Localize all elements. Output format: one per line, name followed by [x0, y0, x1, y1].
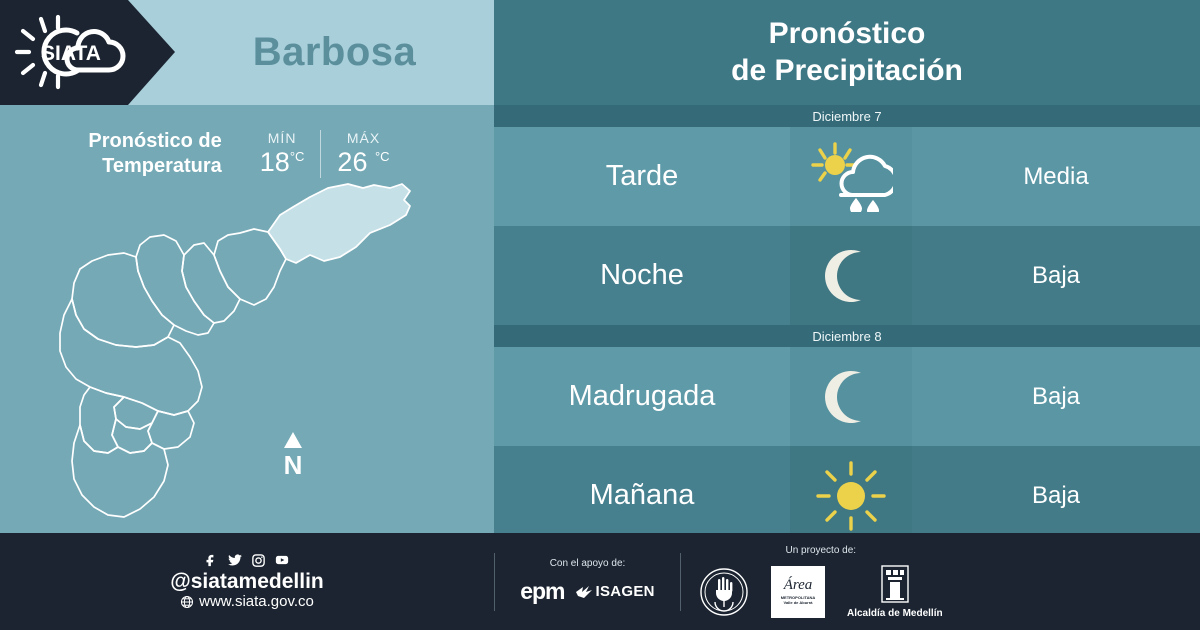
- precipitation-panel: Pronóstico de Precipitación Diciembre 7 …: [494, 0, 1200, 533]
- forecast-row: Noche Baja: [494, 226, 1200, 325]
- globe-icon: [180, 595, 194, 609]
- weather-forecast-poster: SIATA Barbosa Pronóstico de Temperatura …: [0, 0, 1200, 630]
- map-region-barbosa: [268, 184, 410, 263]
- page-title: Barbosa: [175, 0, 494, 105]
- project-block: Un proyecto de: Área: [681, 545, 961, 619]
- left-panel: SIATA Barbosa Pronóstico de Temperatura …: [0, 0, 494, 533]
- temperature-min-value: 18°C: [260, 147, 305, 178]
- compass-label: N: [284, 450, 303, 478]
- social-block: @siatamedellin www.siata.gov.co: [0, 553, 494, 610]
- temperature-max-value: 26 °C: [337, 147, 389, 178]
- epm-logo: epm: [520, 578, 564, 605]
- map-region-caldas: [72, 425, 168, 517]
- forecast-probability: Media: [912, 127, 1200, 226]
- weather-icon-cell: [790, 127, 912, 226]
- temperature-max-label: MÁX: [337, 130, 389, 146]
- date-header: Diciembre 7: [494, 105, 1200, 127]
- sun-icon: [815, 460, 887, 532]
- footer: @siatamedellin www.siata.gov.co Con el a…: [0, 533, 1200, 630]
- compass-north-icon: N: [278, 430, 308, 478]
- forecast-period: Mañana: [494, 446, 790, 545]
- alcaldia-crest-icon: [879, 565, 911, 605]
- temperature-max: MÁX 26 °C: [321, 130, 405, 178]
- precipitation-title: Pronóstico de Precipitación: [494, 0, 1200, 105]
- alcaldia-medellin-logo: Alcaldía de Medellín: [847, 565, 943, 619]
- forecast-probability: Baja: [912, 226, 1200, 325]
- project-logos: Área METROPOLITANA Valle de Aburrá Alcal…: [699, 565, 943, 619]
- temperature-title: Pronóstico de Temperatura: [88, 129, 221, 179]
- project-label: Un proyecto de:: [785, 545, 856, 556]
- forecast-period: Tarde: [494, 127, 790, 226]
- social-icons: [204, 553, 291, 568]
- area-logo-text: Área: [784, 578, 813, 593]
- twitter-icon[interactable]: [226, 553, 244, 568]
- map-region-medellin: [60, 299, 202, 415]
- website-url: www.siata.gov.co: [199, 593, 314, 610]
- isagen-mark-icon: [576, 585, 592, 599]
- forecast-probability: Baja: [912, 347, 1200, 446]
- map-region-bello: [136, 235, 214, 335]
- isagen-logo: ISAGEN: [576, 583, 654, 600]
- forecast-period: Madrugada: [494, 347, 790, 446]
- area-logo-subtext: METROPOLITANA Valle de Aburrá: [781, 595, 816, 605]
- area-metropolitana-logo: Área METROPOLITANA Valle de Aburrá: [771, 566, 825, 618]
- instagram-icon[interactable]: [251, 553, 266, 568]
- weather-icon-cell: [790, 226, 912, 325]
- forecast-probability: Baja: [912, 446, 1200, 545]
- siata-logo-pennant: SIATA: [0, 0, 175, 105]
- precipitation-title-line2: de Precipitación: [731, 53, 963, 90]
- temperature-min: MÍN 18°C: [244, 130, 322, 178]
- aburra-valley-map: [18, 175, 476, 525]
- moon-icon: [821, 367, 881, 427]
- youtube-icon[interactable]: [273, 553, 291, 567]
- website-line[interactable]: www.siata.gov.co: [180, 593, 314, 610]
- temperature-min-label: MÍN: [260, 130, 305, 146]
- weather-icon-cell: [790, 446, 912, 545]
- sun-rain-cloud-icon: [809, 142, 893, 212]
- forecast-period: Noche: [494, 226, 790, 325]
- universidad-medellin-seal-icon: [699, 567, 749, 617]
- support-logos: epm ISAGEN: [520, 578, 655, 605]
- header-band: SIATA Barbosa: [0, 0, 494, 105]
- precipitation-title-line1: Pronóstico: [769, 16, 926, 53]
- social-handle[interactable]: @siatamedellin: [170, 571, 324, 593]
- siata-logo-text: SIATA: [41, 42, 101, 65]
- forecast-row: Madrugada Baja: [494, 347, 1200, 446]
- sun-cloud-icon: SIATA: [14, 14, 132, 90]
- facebook-icon[interactable]: [204, 553, 219, 568]
- support-label: Con el apoyo de:: [550, 558, 626, 569]
- weather-icon-cell: [790, 347, 912, 446]
- map-region-envigado: [148, 411, 194, 449]
- date-header: Diciembre 8: [494, 325, 1200, 347]
- alcaldia-logo-text: Alcaldía de Medellín: [847, 608, 943, 619]
- moon-icon: [821, 246, 881, 306]
- forecast-row: Mañana Baja: [494, 446, 1200, 545]
- forecast-row: Tarde Media: [494, 127, 1200, 226]
- temperature-values: MÍN 18°C MÁX 26 °C: [244, 130, 406, 178]
- map-region-copacabana: [182, 243, 240, 323]
- map-region-north-west: [72, 253, 174, 347]
- support-block: Con el apoyo de: epm ISAGEN: [495, 558, 680, 605]
- map-panel: Pronóstico de Temperatura MÍN 18°C MÁX 2…: [0, 105, 494, 533]
